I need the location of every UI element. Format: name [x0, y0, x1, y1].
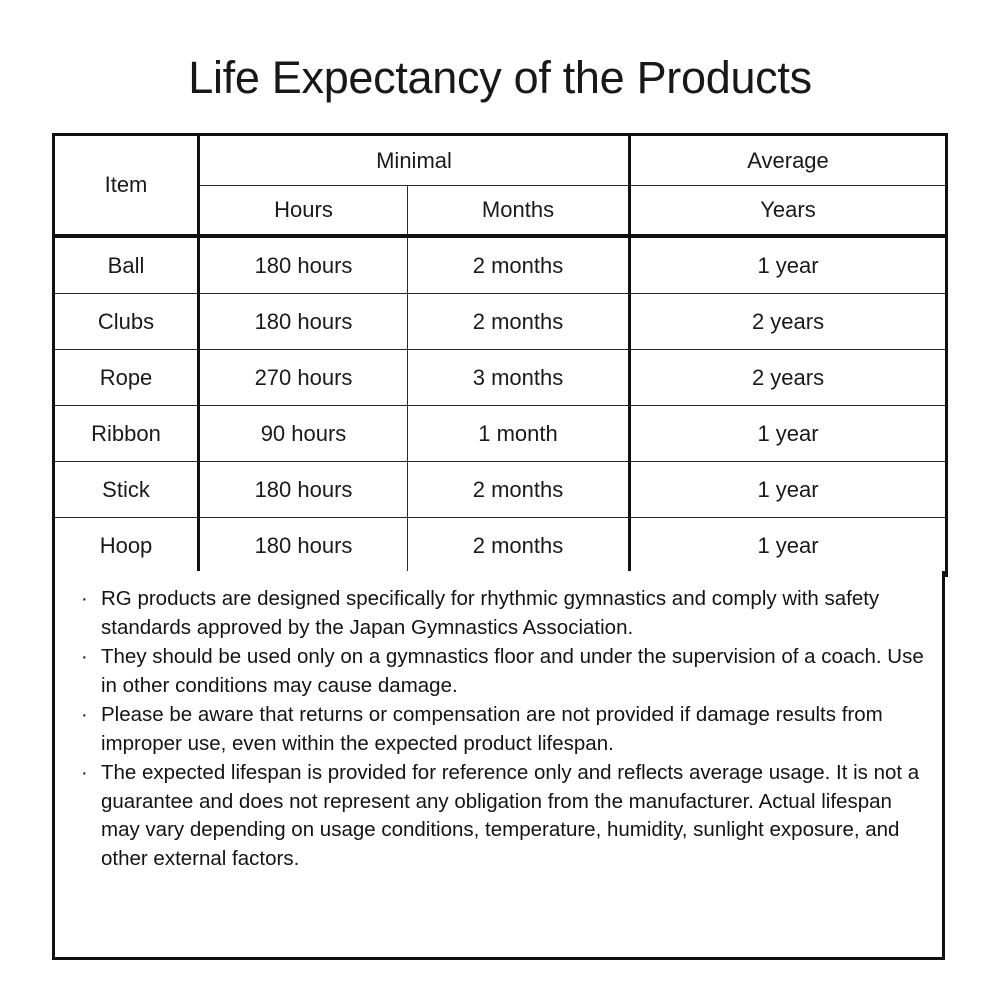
page-title: Life Expectancy of the Products	[0, 52, 1000, 104]
table-row: Stick 180 hours 2 months 1 year	[54, 462, 947, 518]
table-row: Ribbon 90 hours 1 month 1 year	[54, 406, 947, 462]
cell-item: Hoop	[54, 518, 199, 576]
cell-item: Stick	[54, 462, 199, 518]
cell-months: 2 months	[408, 518, 630, 576]
note-text: RG products are designed specifically fo…	[101, 587, 879, 639]
cell-years: 1 year	[630, 236, 947, 294]
list-item: · Please be aware that returns or compen…	[77, 701, 924, 758]
column-header-months: Months	[408, 186, 630, 237]
cell-years: 1 year	[630, 462, 947, 518]
notes-box: · RG products are designed specifically …	[52, 571, 945, 960]
cell-years: 2 years	[630, 350, 947, 406]
notes-list: · RG products are designed specifically …	[77, 585, 924, 873]
cell-years: 1 year	[630, 406, 947, 462]
column-header-hours: Hours	[199, 186, 408, 237]
column-header-item: Item	[54, 135, 199, 237]
table-body: Ball 180 hours 2 months 1 year Clubs 180…	[54, 236, 947, 575]
cell-months: 2 months	[408, 294, 630, 350]
bullet-icon: ·	[81, 701, 88, 730]
cell-years: 1 year	[630, 518, 947, 576]
column-group-header-minimal: Minimal	[199, 135, 630, 186]
cell-years: 2 years	[630, 294, 947, 350]
column-group-header-average: Average	[630, 135, 947, 186]
table-row: Clubs 180 hours 2 months 2 years	[54, 294, 947, 350]
table-row: Ball 180 hours 2 months 1 year	[54, 236, 947, 294]
cell-months: 3 months	[408, 350, 630, 406]
cell-item: Clubs	[54, 294, 199, 350]
bullet-icon: ·	[81, 643, 88, 672]
cell-hours: 180 hours	[199, 462, 408, 518]
list-item: · The expected lifespan is provided for …	[77, 759, 924, 873]
cell-item: Ribbon	[54, 406, 199, 462]
product-life-expectancy-sheet: Life Expectancy of the Products Item Min…	[0, 0, 1000, 1000]
list-item: · They should be used only on a gymnasti…	[77, 643, 924, 700]
bullet-icon: ·	[81, 585, 88, 614]
cell-item: Rope	[54, 350, 199, 406]
cell-item: Ball	[54, 236, 199, 294]
cell-hours: 90 hours	[199, 406, 408, 462]
table-row: Hoop 180 hours 2 months 1 year	[54, 518, 947, 576]
note-text: Please be aware that returns or compensa…	[101, 703, 883, 755]
table-header-row-groups: Item Minimal Average	[54, 135, 947, 186]
cell-hours: 270 hours	[199, 350, 408, 406]
cell-months: 1 month	[408, 406, 630, 462]
cell-months: 2 months	[408, 462, 630, 518]
cell-hours: 180 hours	[199, 294, 408, 350]
note-text: The expected lifespan is provided for re…	[101, 761, 919, 870]
cell-hours: 180 hours	[199, 518, 408, 576]
note-text: They should be used only on a gymnastics…	[101, 645, 924, 697]
list-item: · RG products are designed specifically …	[77, 585, 924, 642]
table-header: Item Minimal Average Hours Months Years	[54, 135, 947, 237]
column-header-years: Years	[630, 186, 947, 237]
table-row: Rope 270 hours 3 months 2 years	[54, 350, 947, 406]
life-expectancy-table: Item Minimal Average Hours Months Years …	[52, 133, 948, 577]
bullet-icon: ·	[81, 759, 88, 788]
cell-months: 2 months	[408, 236, 630, 294]
cell-hours: 180 hours	[199, 236, 408, 294]
life-expectancy-table-container: Item Minimal Average Hours Months Years …	[52, 133, 945, 577]
